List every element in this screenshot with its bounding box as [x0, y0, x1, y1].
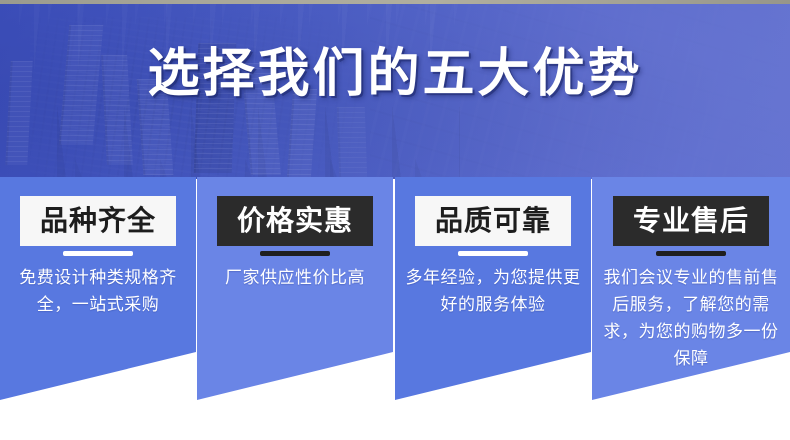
card-4-badge: 专业售后: [613, 196, 769, 246]
advantage-card-row: 品种齐全 免费设计种类规格齐全，一站式采购 价格实惠 厂家供应性价比高 品质可靠…: [0, 177, 790, 440]
page-title: 选择我们的五大优势: [0, 48, 790, 100]
card-1-badge: 品种齐全: [20, 196, 176, 246]
card-3-description: 多年经验，为您提供更好的服务体验: [405, 265, 581, 319]
card-4-divider: [656, 251, 726, 256]
top-edge-strip: [0, 0, 790, 4]
card-4-description: 我们会议专业的售前售后服务，了解您的需求，为您的购物多一份保障: [602, 265, 780, 372]
card-1-description: 免费设计种类规格齐全，一站式采购: [10, 265, 186, 319]
card-2-badge: 价格实惠: [217, 196, 373, 246]
card-2-description: 厂家供应性价比高: [207, 265, 383, 292]
promo-banner: 选择我们的五大优势 品种齐全 免费设计种类规格齐全，一站式采购 价格实惠 厂家供…: [0, 0, 790, 440]
card-3-badge: 品质可靠: [415, 196, 571, 246]
advantage-card-4: 专业售后 我们会议专业的售前售后服务，了解您的需求，为您的购物多一份保障: [592, 177, 790, 400]
advantage-card-1: 品种齐全 免费设计种类规格齐全，一站式采购: [0, 177, 196, 400]
card-2-divider: [260, 251, 330, 256]
card-3-divider: [458, 251, 528, 256]
advantage-card-3: 品质可靠 多年经验，为您提供更好的服务体验: [395, 177, 591, 400]
card-1-divider: [63, 251, 133, 256]
advantage-card-2: 价格实惠 厂家供应性价比高: [197, 177, 393, 400]
